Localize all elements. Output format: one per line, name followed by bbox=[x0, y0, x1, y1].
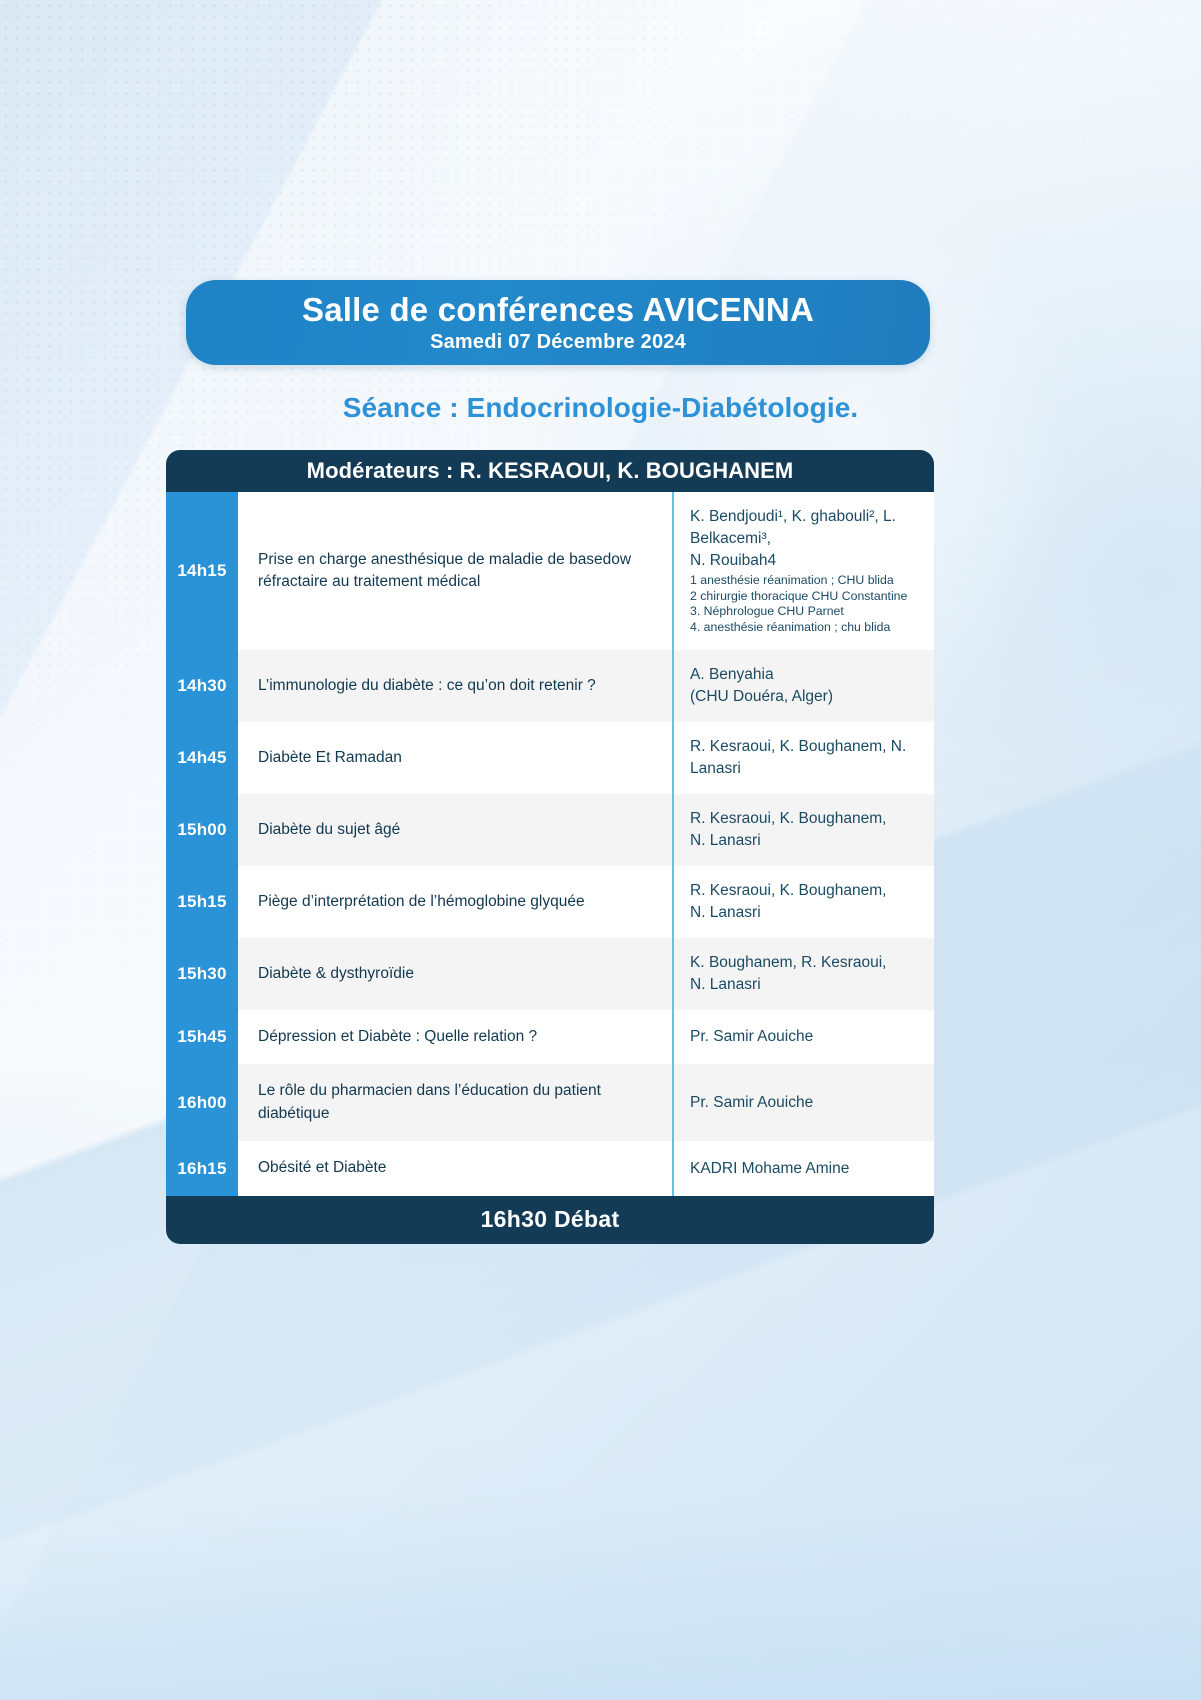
session-title: Séance : Endocrinologie-Diabétologie. bbox=[0, 392, 1201, 424]
table-row: 16h00 Le rôle du pharmacien dans l’éduca… bbox=[166, 1064, 934, 1141]
header-banner: Salle de conférences AVICENNA Samedi 07 … bbox=[186, 280, 930, 365]
table-row: 14h15 Prise en charge anesthésique de ma… bbox=[166, 492, 934, 650]
row-speaker: R. Kesraoui, K. Boughanem, N. Lanasri bbox=[672, 866, 934, 938]
row-speaker: Pr. Samir Aouiche bbox=[672, 1010, 934, 1064]
row-topic: L’immunologie du diabète : ce qu’on doit… bbox=[238, 650, 672, 722]
header-date: Samedi 07 Décembre 2024 bbox=[430, 331, 686, 354]
table-row: 15h30 Diabète & dysthyroïdie K. Boughane… bbox=[166, 938, 934, 1010]
table-row: 14h45 Diabète Et Ramadan R. Kesraoui, K.… bbox=[166, 722, 934, 794]
row-topic: Diabète du sujet âgé bbox=[238, 794, 672, 866]
debat-footer-bar: 16h30 Débat bbox=[166, 1196, 934, 1244]
row-time: 15h00 bbox=[166, 794, 238, 866]
row-speaker: R. Kesraoui, K. Boughanem, N. Lanasri bbox=[672, 794, 934, 866]
row-time: 14h30 bbox=[166, 650, 238, 722]
speaker-names: K. Bendjoudi¹, K. ghabouli², L. Belkacem… bbox=[690, 506, 920, 572]
row-topic: Obésité et Diabète bbox=[238, 1141, 672, 1195]
speaker-names: Pr. Samir Aouiche bbox=[690, 1026, 920, 1048]
speaker-names: A. Benyahia (CHU Douéra, Alger) bbox=[690, 664, 920, 708]
row-speaker: K. Bendjoudi¹, K. ghabouli², L. Belkacem… bbox=[672, 492, 934, 650]
row-time: 15h30 bbox=[166, 938, 238, 1010]
speaker-names: R. Kesraoui, K. Boughanem, N. Lanasri bbox=[690, 736, 920, 780]
row-topic: Diabète & dysthyroïdie bbox=[238, 938, 672, 1010]
row-time: 14h15 bbox=[166, 492, 238, 650]
table-row: 15h00 Diabète du sujet âgé R. Kesraoui, … bbox=[166, 794, 934, 866]
speaker-names: R. Kesraoui, K. Boughanem, N. Lanasri bbox=[690, 880, 920, 924]
row-topic: Diabète Et Ramadan bbox=[238, 722, 672, 794]
schedule-table: 14h15 Prise en charge anesthésique de ma… bbox=[166, 492, 934, 1196]
row-speaker: K. Boughanem, R. Kesraoui, N. Lanasri bbox=[672, 938, 934, 1010]
table-row: 14h30 L’immunologie du diabète : ce qu’o… bbox=[166, 650, 934, 722]
header-title: Salle de conférences AVICENNA bbox=[302, 293, 814, 328]
row-time: 16h00 bbox=[166, 1064, 238, 1141]
row-topic: Le rôle du pharmacien dans l’éducation d… bbox=[238, 1064, 672, 1141]
row-time: 15h15 bbox=[166, 866, 238, 938]
row-speaker: R. Kesraoui, K. Boughanem, N. Lanasri bbox=[672, 722, 934, 794]
table-row: 15h45 Dépression et Diabète : Quelle rel… bbox=[166, 1010, 934, 1064]
table-row: 15h15 Piège d’interprétation de l’hémogl… bbox=[166, 866, 934, 938]
speaker-names: K. Boughanem, R. Kesraoui, N. Lanasri bbox=[690, 952, 920, 996]
row-topic: Dépression et Diabète : Quelle relation … bbox=[238, 1010, 672, 1064]
row-speaker: KADRI Mohame Amine bbox=[672, 1141, 934, 1195]
program-card: Modérateurs : R. KESRAOUI, K. BOUGHANEM … bbox=[166, 450, 934, 1244]
program-page: Salle de conférences AVICENNA Samedi 07 … bbox=[0, 0, 1201, 1700]
row-topic: Prise en charge anesthésique de maladie … bbox=[238, 492, 672, 650]
row-topic: Piège d’interprétation de l’hémoglobine … bbox=[238, 866, 672, 938]
row-speaker: Pr. Samir Aouiche bbox=[672, 1064, 934, 1141]
speaker-names: R. Kesraoui, K. Boughanem, N. Lanasri bbox=[690, 808, 920, 852]
speaker-names: KADRI Mohame Amine bbox=[690, 1158, 920, 1180]
speaker-affiliations: 1 anesthésie réanimation ; CHU blida 2 c… bbox=[690, 573, 920, 636]
moderators-bar: Modérateurs : R. KESRAOUI, K. BOUGHANEM bbox=[166, 450, 934, 492]
row-time: 16h15 bbox=[166, 1141, 238, 1195]
row-speaker: A. Benyahia (CHU Douéra, Alger) bbox=[672, 650, 934, 722]
row-time: 14h45 bbox=[166, 722, 238, 794]
speaker-names: Pr. Samir Aouiche bbox=[690, 1092, 920, 1114]
table-row: 16h15 Obésité et Diabète KADRI Mohame Am… bbox=[166, 1141, 934, 1195]
row-time: 15h45 bbox=[166, 1010, 238, 1064]
